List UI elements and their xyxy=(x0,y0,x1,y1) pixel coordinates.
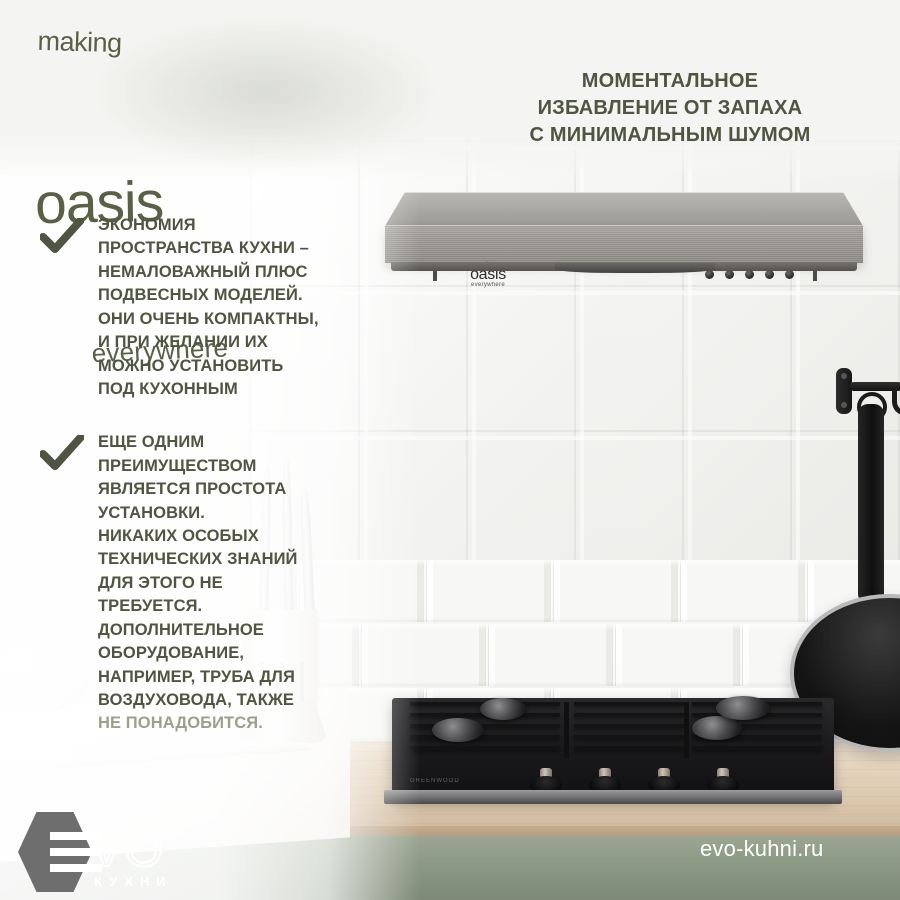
benefit-text-2: ЕЩЕ ОДНИМ ПРЕИМУЩЕСТВОМ ЯВЛЯЕТСЯ ПРОСТОТ… xyxy=(98,431,360,712)
benefit-list: ЭКОНОМИЯ ПРОСТРАНСТВА КУХНИ – НЕМАЛОВАЖН… xyxy=(40,214,360,766)
benefit-text-2-tail: НЕ ПОНАДОБИТСЯ. xyxy=(98,712,360,735)
gas-burner-4 xyxy=(716,696,770,720)
evo-subtitle: КУХНИ xyxy=(94,874,173,889)
check-icon xyxy=(40,218,84,254)
headline: МОМЕНТАЛЬНОЕ ИЗБАВЛЕНИЕ ОТ ЗАПАХА С МИНИ… xyxy=(455,68,885,149)
range-hood: making oasis everywhere xyxy=(385,192,863,272)
gas-burner-2 xyxy=(480,698,526,720)
hood-button-4[interactable] xyxy=(765,270,774,279)
hood-control-buttons[interactable] xyxy=(705,270,794,279)
frying-pan xyxy=(852,404,900,704)
logo-glow xyxy=(100,22,430,162)
website-url[interactable]: evo-kuhni.ru xyxy=(700,836,823,862)
burner-grate-center xyxy=(574,702,684,754)
evo-logo[interactable]: VO КУХНИ xyxy=(18,810,218,892)
benefit-item-1: ЭКОНОМИЯ ПРОСТРАНСТВА КУХНИ – НЕМАЛОВАЖН… xyxy=(40,214,360,401)
benefit-item-2: ЕЩЕ ОДНИМ ПРЕИМУЩЕСТВОМ ЯВЛЯЕТСЯ ПРОСТОТ… xyxy=(40,431,360,735)
evo-wordmark: VO xyxy=(90,824,164,874)
hood-button-1[interactable] xyxy=(705,270,714,279)
gas-burner-1 xyxy=(432,718,484,742)
gas-cooktop: GREENWOOD xyxy=(392,690,834,812)
check-icon xyxy=(40,435,84,471)
poster: making oasis everywhere xyxy=(0,0,900,900)
benefit-text-1: ЭКОНОМИЯ ПРОСТРАНСТВА КУХНИ – НЕМАЛОВАЖН… xyxy=(98,214,360,401)
hood-button-2[interactable] xyxy=(725,270,734,279)
gas-burner-3 xyxy=(692,716,742,740)
hood-button-3[interactable] xyxy=(745,270,754,279)
brand-line-making: making xyxy=(34,28,47,180)
hood-button-5[interactable] xyxy=(785,270,794,279)
